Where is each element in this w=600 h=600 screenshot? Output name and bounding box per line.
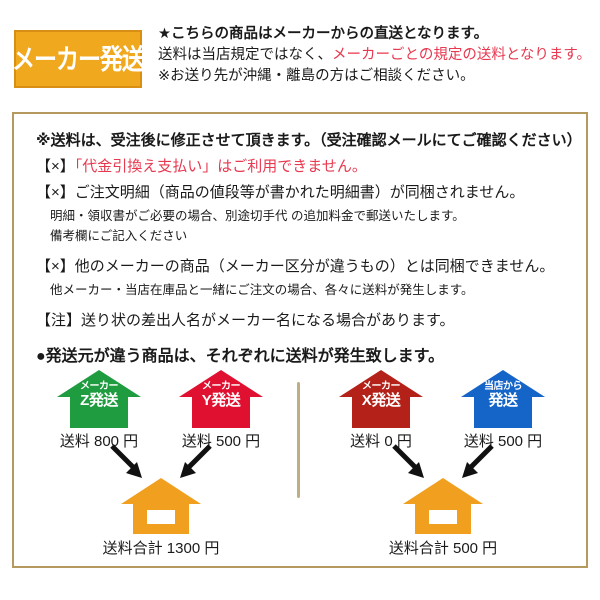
house-label-top: メーカー	[339, 382, 423, 393]
notice-item-text: 送り状の差出人名がメーカー名になる場合があります。	[81, 312, 455, 329]
notice-item: 【×】他のメーカーの商品（メーカー区分が違うもの）とは同梱できません。	[36, 254, 576, 280]
notice-item-mark: 【×】	[36, 258, 75, 275]
house-label-main: X発送	[339, 393, 423, 409]
house-icon-own-store: 当店から 発送	[461, 370, 545, 428]
house-roof	[403, 478, 483, 504]
source-house-group: メーカー Y発送 送料 500 円	[162, 370, 280, 451]
notice-item-text: ご注文明細（商品の値段等が書かれた明細書）が同梱されません。	[75, 184, 525, 201]
destination-house-group: 送料合計 500 円	[378, 478, 508, 558]
house-label-top: メーカー	[179, 382, 263, 393]
notice-sub-line: 備考欄にご記入ください	[36, 226, 576, 246]
house-door	[429, 510, 457, 524]
source-house-group: メーカー Z発送 送料 800 円	[40, 370, 158, 451]
source-house-group: 当店から 発送 送料 500 円	[444, 370, 562, 451]
house-icon-maker-y: メーカー Y発送	[179, 370, 263, 428]
house-icon-maker-z: メーカー Z発送	[57, 370, 141, 428]
notice-item: 【×】ご注文明細（商品の値段等が書かれた明細書）が同梱されません。	[36, 180, 576, 206]
maker-shipping-badge: メーカー発送	[14, 30, 142, 88]
header-text-block: ★こちらの商品はメーカーからの直送となります。 送料は当店規定ではなく、メーカー…	[158, 24, 598, 87]
spacer	[36, 300, 576, 308]
spacer	[36, 334, 576, 342]
house-roof	[121, 478, 201, 504]
house-label-top: メーカー	[57, 382, 141, 393]
header-line-1: ★こちらの商品はメーカーからの直送となります。	[158, 24, 598, 45]
house-label-main: Z発送	[57, 393, 141, 409]
destination-house-group: 送料合計 1300 円	[96, 478, 226, 558]
header-line-2-prefix: 送料は当店規定ではなく、	[158, 47, 332, 63]
notice-item-mark: 【×】	[36, 158, 75, 175]
shipping-total-label: 送料合計 500 円	[378, 537, 508, 558]
house-door	[147, 510, 175, 524]
house-icon-destination	[403, 478, 483, 534]
house-label-main: Y発送	[179, 393, 263, 409]
spacer	[36, 246, 576, 254]
notice-text-list: ※送料は、受注後に修正させて頂きます。（受注確認メールにてご確認ください） 【×…	[36, 128, 576, 372]
header-line-3: ※お送り先が沖縄・離島の方はご相談ください。	[158, 66, 598, 87]
notice-item-mark: 【注】	[36, 312, 81, 329]
house-label: メーカー X発送	[339, 382, 423, 408]
notice-item-text: 他のメーカーの商品（メーカー区分が違うもの）とは同梱できません。	[75, 258, 555, 275]
house-icon-destination	[121, 478, 201, 534]
header-line-2-highlight: メーカーごとの規定の送料となります。	[332, 47, 591, 63]
notice-box: ※送料は、受注後に修正させて頂きます。（受注確認メールにてご確認ください） 【×…	[12, 112, 588, 568]
shipping-fee-diagram: メーカー Z発送 送料 800 円 メーカー Y発送 送料 500 円	[14, 366, 586, 566]
notice-sub-line: 明細・領収書がご必要の場合、別途切手代 の追加料金で郵送いたします。	[36, 206, 576, 226]
notice-sub-line: 他メーカー・当店在庫品と一緒にご注文の場合、各々に送料が発生します。	[36, 280, 576, 300]
header-line-2: 送料は当店規定ではなく、メーカーごとの規定の送料となります。	[158, 45, 598, 66]
diagram-panel-left: メーカー Z発送 送料 800 円 メーカー Y発送 送料 500 円	[22, 366, 302, 566]
notice-main-line: ※送料は、受注後に修正させて頂きます。（受注確認メールにてご確認ください）	[36, 128, 576, 154]
notice-item-text: 「代金引換え支払い」はご利用できません。	[75, 158, 367, 175]
notice-item: 【注】送り状の差出人名がメーカー名になる場合があります。	[36, 308, 576, 334]
header-banner: メーカー発送 ★こちらの商品はメーカーからの直送となります。 送料は当店規定では…	[0, 24, 600, 104]
house-label-top: 当店から	[461, 382, 545, 393]
source-house-group: メーカー X発送 送料 0 円	[322, 370, 440, 451]
house-label-main: 発送	[461, 393, 545, 409]
house-label: 当店から 発送	[461, 382, 545, 408]
house-label: メーカー Z発送	[57, 382, 141, 408]
house-label: メーカー Y発送	[179, 382, 263, 408]
diagram-panel-right: メーカー X発送 送料 0 円 当店から 発送 送料 500 円	[304, 366, 584, 566]
notice-item: 【×】「代金引換え支払い」はご利用できません。	[36, 154, 576, 180]
notice-item-mark: 【×】	[36, 184, 75, 201]
shipping-total-label: 送料合計 1300 円	[96, 537, 226, 558]
house-icon-maker-x: メーカー X発送	[339, 370, 423, 428]
maker-shipping-badge-label: メーカー発送	[12, 45, 144, 72]
